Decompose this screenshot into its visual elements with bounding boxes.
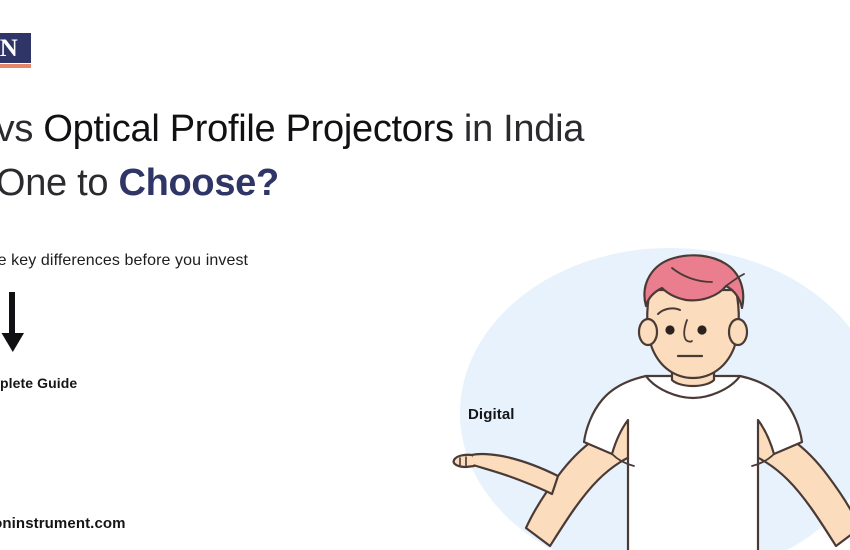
page-title-line-2: ich One to Choose? [0, 156, 850, 210]
right-ear [729, 319, 747, 345]
title-phrase-which-one-to: ich One to [0, 162, 118, 204]
left-ear [639, 319, 657, 345]
right-eye [697, 325, 706, 334]
brand-logo[interactable]: N [0, 33, 32, 69]
cta-text[interactable]: he Complete Guide [0, 375, 77, 391]
logo-square: N [0, 33, 31, 63]
left-hand-palm [454, 455, 474, 467]
title-phrase-in-india: in India [454, 108, 584, 150]
title-phrase-optical-profile-projectors: Optical Profile Projectors [43, 108, 453, 150]
poster-canvas: N ital vs Optical Profile Projectors in … [0, 0, 850, 550]
down-arrow-icon [0, 292, 26, 354]
logo-letter: N [0, 36, 17, 61]
logo-accent-bar [0, 64, 31, 68]
title-word-choose: Choose? [118, 162, 278, 204]
hero-illustration: ? [440, 228, 850, 550]
label-digital: Digital [468, 406, 515, 423]
shrugging-person-illustration: ? [440, 228, 850, 550]
page-title-line-1: ital vs Optical Profile Projectors in In… [0, 102, 850, 156]
face [647, 290, 739, 378]
subtitle-text: tand the key differences before you inve… [0, 252, 248, 270]
title-word-vs: vs [0, 108, 43, 150]
left-eye [665, 325, 674, 334]
left-forearm [470, 454, 558, 494]
contact-email[interactable]: @sipconinstrument.com [0, 515, 126, 532]
